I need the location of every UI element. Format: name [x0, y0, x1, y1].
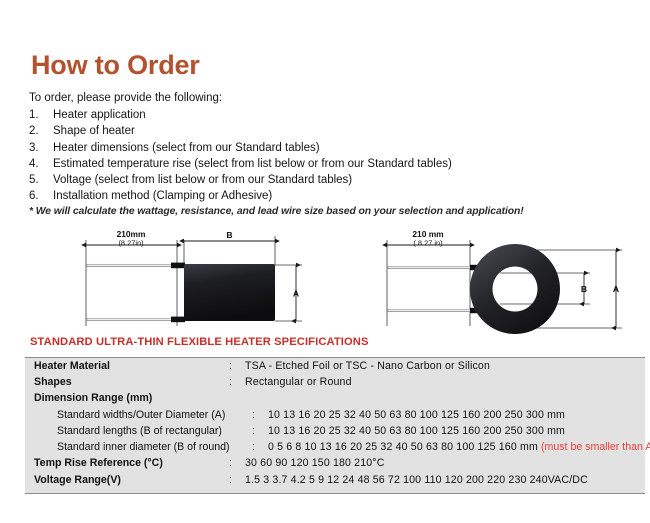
rectangular-heater-diagram: 210mm (8.27in) B A — [86, 229, 302, 326]
list-item-label: Heater application — [53, 107, 629, 123]
rect-dim-a-label: A — [293, 289, 299, 299]
list-item-number: 1. — [29, 107, 53, 123]
spec-value: 10 13 16 20 25 32 40 50 63 80 100 125 16… — [268, 409, 645, 421]
list-item-label: Estimated temperature rise (select from … — [53, 156, 629, 172]
round-dim-b-label: B — [581, 284, 587, 294]
spec-colon: : — [252, 425, 268, 437]
heater-diagram-svg: 210mm (8.27in) B A — [0, 228, 650, 340]
spec-value: 0 5 6 8 10 13 16 20 25 32 40 50 63 80 10… — [268, 441, 650, 453]
spec-label: Standard widths/Outer Diameter (A) — [25, 409, 252, 421]
spec-value: 1.5 3 3.7 4.2 5 9 12 24 48 56 72 100 110… — [245, 474, 645, 486]
list-item-label: Installation method (Clamping or Adhesiv… — [53, 188, 629, 204]
list-item-number: 6. — [29, 188, 53, 204]
table-row: Voltage Range(V) : 1.5 3 3.7 4.2 5 9 12 … — [25, 474, 645, 493]
spec-label: Standard inner diameter (B of round) — [25, 441, 252, 453]
spec-value: 30 60 90 120 150 180 210°C — [245, 457, 645, 469]
spec-value-text: 0 5 6 8 10 13 16 20 25 32 40 50 63 80 10… — [268, 441, 538, 453]
list-item: 6. Installation method (Clamping or Adhe… — [29, 188, 629, 204]
list-item-number: 2. — [29, 123, 53, 139]
spec-value-note: (must be smaller than A) — [541, 441, 650, 453]
spec-colon: : — [252, 441, 268, 453]
spec-table: Heater Material : TSA - Etched Foil or T… — [25, 357, 645, 494]
list-item-label: Heater dimensions (select from our Stand… — [53, 140, 629, 156]
table-row: Heater Material : TSA - Etched Foil or T… — [25, 358, 645, 376]
table-row: Dimension Range (mm) — [25, 392, 645, 408]
spec-value: Rectangular or Round — [245, 376, 645, 388]
list-item: 1. Heater application — [29, 107, 629, 123]
list-item-label: Voltage (select from list below or from … — [53, 172, 629, 188]
spec-colon: : — [229, 360, 245, 372]
table-row: Standard lengths (B of rectangular) : 10… — [25, 425, 645, 441]
table-row: Standard inner diameter (B of round) : 0… — [25, 441, 645, 457]
spec-label: Heater Material — [25, 360, 229, 372]
order-steps-list: 1. Heater application 2. Shape of heater… — [29, 107, 629, 205]
list-item: 3. Heater dimensions (select from our St… — [29, 140, 629, 156]
rect-dim-b-label: B — [226, 230, 232, 240]
round-dim-a-label: A — [613, 284, 619, 294]
spec-colon: : — [252, 409, 268, 421]
list-item-number: 3. — [29, 140, 53, 156]
spec-label: Dimension Range (mm) — [25, 392, 229, 404]
spec-label: Temp Rise Reference (°C) — [25, 457, 229, 469]
spec-colon: : — [229, 474, 245, 486]
round-lead-length-in: ( 8.27 in) — [413, 238, 442, 247]
spec-section-heading: STANDARD ULTRA-THIN FLEXIBLE HEATER SPEC… — [30, 336, 369, 348]
list-item: 4. Estimated temperature rise (select fr… — [29, 156, 629, 172]
table-row: Temp Rise Reference (°C) : 30 60 90 120 … — [25, 457, 645, 473]
list-item: 2. Shape of heater — [29, 123, 629, 139]
round-heater-diagram: 210 mm ( 8.27 in) A B — [387, 229, 622, 334]
list-item: 5. Voltage (select from list below or fr… — [29, 172, 629, 188]
spec-colon: : — [229, 457, 245, 469]
table-row: Standard widths/Outer Diameter (A) : 10 … — [25, 409, 645, 425]
spec-colon: : — [229, 376, 245, 388]
table-row: Shapes : Rectangular or Round — [25, 376, 645, 392]
spec-value: 10 13 16 20 25 32 40 50 63 80 100 125 16… — [268, 425, 645, 437]
rect-lead-length-in: (8.27in) — [118, 238, 143, 247]
spec-label: Standard lengths (B of rectangular) — [25, 425, 252, 437]
intro-text: To order, please provide the following: — [29, 92, 222, 104]
spec-label: Voltage Range(V) — [25, 474, 229, 486]
heater-diagrams: 210mm (8.27in) B A — [0, 228, 650, 340]
footnote-text: * We will calculate the wattage, resista… — [29, 206, 524, 217]
spec-label: Shapes — [25, 376, 229, 388]
list-item-number: 5. — [29, 172, 53, 188]
list-item-label: Shape of heater — [53, 123, 629, 139]
page-title: How to Order — [31, 52, 200, 79]
list-item-number: 4. — [29, 156, 53, 172]
spec-value: TSA - Etched Foil or TSC - Nano Carbon o… — [245, 360, 645, 372]
